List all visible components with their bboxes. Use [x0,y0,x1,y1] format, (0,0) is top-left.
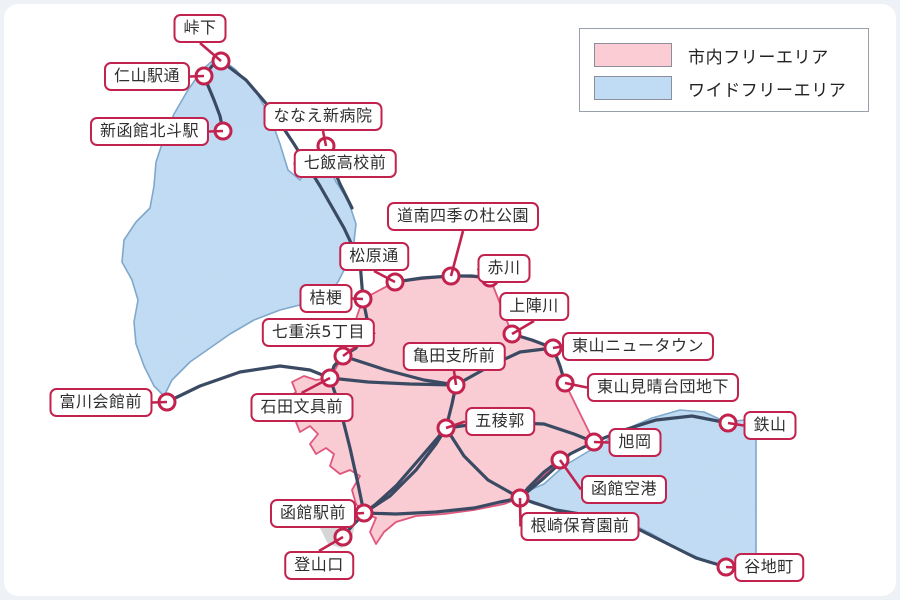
label-leader [553,347,562,349]
legend-swatch-pink [594,43,672,67]
station-label[interactable]: 桔梗 [299,284,352,313]
label-leader [594,442,609,443]
legend-swatch-blue [594,76,672,100]
station-label[interactable]: 仁山駅通 [104,62,190,91]
label-leader [152,402,167,403]
station-label[interactable]: 道南四季の杜公園 [387,202,539,231]
station-label[interactable]: 函館駅前 [270,499,356,528]
station-label[interactable]: 赤川 [477,254,530,283]
label-leader [200,43,221,61]
station-label[interactable]: 東山ニュータウン [562,332,714,361]
station-label[interactable]: ななえ新病院 [263,102,382,131]
label-leader [190,76,204,77]
station-label[interactable]: 登山口 [284,551,354,580]
station-label[interactable]: 七重浜5丁目 [262,318,375,347]
station-label[interactable]: 五稜郭 [465,407,535,436]
legend-item-wide-free-area: ワイドフリーエリア [594,73,854,103]
station-label[interactable]: 旭岡 [608,428,661,457]
station-label[interactable]: 松原通 [339,242,409,271]
label-leader [353,299,364,300]
label-leader [726,567,734,568]
station-label[interactable]: 根崎保育園前 [520,512,639,541]
map-card: 市内フリーエリア ワイドフリーエリア 峠下仁山駅通新函館北斗駅ななえ新病院七飯高… [4,4,896,596]
station-label[interactable]: 石田文具前 [250,393,353,422]
station-label[interactable]: 七飯高校前 [294,149,397,178]
station-label[interactable]: 函館空港 [581,475,667,504]
legend-item-city-free-area: 市内フリーエリア [594,40,854,70]
legend-box: 市内フリーエリア ワイドフリーエリア [579,28,869,112]
label-leader [209,131,223,132]
station-label[interactable]: 富川会館前 [49,388,152,417]
station-label[interactable]: 新函館北斗駅 [90,117,209,146]
station-label[interactable]: 谷地町 [734,553,804,582]
legend-label-city-free-area: 市内フリーエリア [688,43,829,68]
station-label[interactable]: 鉄山 [743,411,796,440]
station-label[interactable]: 上陣川 [499,292,569,321]
station-label[interactable]: 亀田支所前 [403,342,506,371]
station-label[interactable]: 峠下 [173,14,226,43]
label-leader [356,513,364,514]
legend-label-wide-free-area: ワイドフリーエリア [688,76,846,101]
station-label[interactable]: 東山見晴台団地下 [587,373,739,402]
